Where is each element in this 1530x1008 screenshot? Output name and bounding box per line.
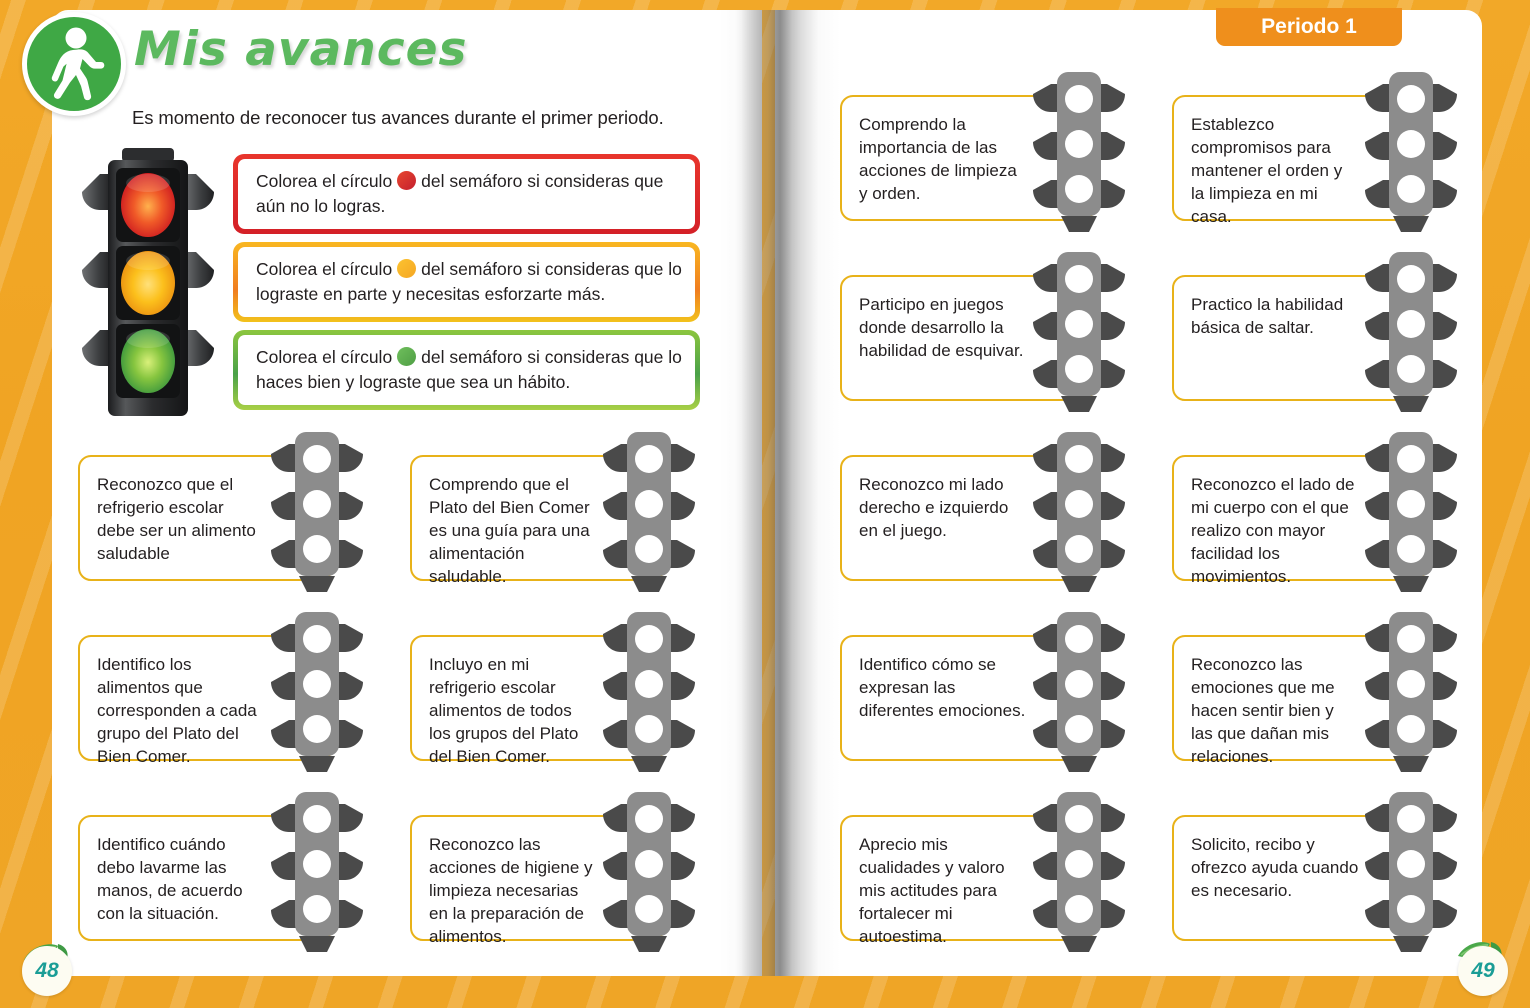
progress-card-text: Identifico cómo se expresan las diferent… xyxy=(859,653,1027,722)
progress-card[interactable]: Reconozco mi lado derecho e izquierdo en… xyxy=(840,455,1095,581)
progress-card[interactable]: Identifico cuándo debo lavarme las manos… xyxy=(78,815,333,941)
legend-text-yellow: Colorea el círculodel semáforo si consid… xyxy=(256,257,689,307)
traffic-light-icon[interactable] xyxy=(1353,66,1469,242)
traffic-light-icon[interactable] xyxy=(259,426,375,602)
progress-card-text: Participo en juegos donde desarrollo la … xyxy=(859,293,1027,362)
progress-card[interactable]: Comprendo que el Plato del Bien Comer es… xyxy=(410,455,665,581)
page-title: Mis avances xyxy=(134,22,467,77)
traffic-light-icon[interactable] xyxy=(1353,606,1469,782)
legend-prefix-green: Colorea el círculo xyxy=(256,347,392,367)
legend-dot-green xyxy=(397,347,416,366)
traffic-light-icon[interactable] xyxy=(1353,786,1469,962)
traffic-light-icon[interactable] xyxy=(1021,786,1137,962)
page-number-left: 48 xyxy=(18,940,76,998)
progress-card-text: Reconozco las emociones que me hacen sen… xyxy=(1191,653,1359,769)
progress-card[interactable]: Reconozco que el refrigerio escolar debe… xyxy=(78,455,333,581)
progress-card-text: Aprecio mis cualidades y valoro mis acti… xyxy=(859,833,1027,949)
traffic-light-icon[interactable] xyxy=(259,786,375,962)
progress-card[interactable]: Reconozco el lado de mi cuerpo con el qu… xyxy=(1172,455,1427,581)
legend-text-red: Colorea el círculodel semáforo si consid… xyxy=(256,169,689,219)
progress-card-text: Reconozco que el refrigerio escolar debe… xyxy=(97,473,265,565)
page-number-right: 49 xyxy=(1454,940,1512,998)
traffic-light-icon[interactable] xyxy=(1021,246,1137,422)
progress-card[interactable]: Participo en juegos donde desarrollo la … xyxy=(840,275,1095,401)
traffic-light-icon[interactable] xyxy=(1021,66,1137,242)
traffic-light-icon[interactable] xyxy=(1353,246,1469,422)
progress-card-text: Comprendo que el Plato del Bien Comer es… xyxy=(429,473,597,589)
traffic-light-icon[interactable] xyxy=(1353,426,1469,602)
progress-card[interactable]: Aprecio mis cualidades y valoro mis acti… xyxy=(840,815,1095,941)
progress-card-text: Establezco compromisos para mantener el … xyxy=(1191,113,1359,229)
progress-card[interactable]: Identifico los alimentos que corresponde… xyxy=(78,635,333,761)
progress-card[interactable]: Reconozco las emociones que me hacen sen… xyxy=(1172,635,1427,761)
progress-card-text: Solicito, recibo y ofrezco ayuda cuando … xyxy=(1191,833,1359,902)
period-badge: Periodo 1 xyxy=(1216,8,1402,46)
progress-card[interactable]: Comprendo la importancia de las acciones… xyxy=(840,95,1095,221)
progress-card-text: Reconozco mi lado derecho e izquierdo en… xyxy=(859,473,1027,542)
progress-card[interactable]: Incluyo en mi refrigerio escolar aliment… xyxy=(410,635,665,761)
progress-card-text: Practico la habilidad básica de saltar. xyxy=(1191,293,1359,339)
traffic-light-icon[interactable] xyxy=(591,606,707,782)
progress-card[interactable]: Solicito, recibo y ofrezco ayuda cuando … xyxy=(1172,815,1427,941)
legend-block: Colorea el círculodel semáforo si consid… xyxy=(70,150,700,414)
progress-card[interactable]: Identifico cómo se expresan las diferent… xyxy=(840,635,1095,761)
pedestrian-walking-icon xyxy=(22,12,126,116)
progress-card-text: Reconozco el lado de mi cuerpo con el qu… xyxy=(1191,473,1359,589)
legend-prefix-red: Colorea el círculo xyxy=(256,171,392,191)
progress-card-text: Incluyo en mi refrigerio escolar aliment… xyxy=(429,653,597,769)
traffic-light-icon[interactable] xyxy=(1021,426,1137,602)
progress-card-text: Identifico cuándo debo lavarme las manos… xyxy=(97,833,265,925)
progress-card-text: Identifico los alimentos que corresponde… xyxy=(97,653,265,769)
page-number-left-value: 48 xyxy=(22,946,72,996)
traffic-light-icon[interactable] xyxy=(591,786,707,962)
progress-card-text: Comprendo la importancia de las acciones… xyxy=(859,113,1027,205)
traffic-light-illustration xyxy=(70,148,245,426)
legend-dot-red xyxy=(397,171,416,190)
progress-card[interactable]: Practico la habilidad básica de saltar. xyxy=(1172,275,1427,401)
legend-dot-yellow xyxy=(397,259,416,278)
legend-prefix-yellow: Colorea el círculo xyxy=(256,259,392,279)
traffic-light-icon[interactable] xyxy=(1021,606,1137,782)
traffic-light-icon[interactable] xyxy=(591,426,707,602)
traffic-light-icon[interactable] xyxy=(259,606,375,782)
progress-card-text: Reconozco las acciones de higiene y limp… xyxy=(429,833,597,949)
progress-card[interactable]: Establezco compromisos para mantener el … xyxy=(1172,95,1427,221)
intro-text: Es momento de reconocer tus avances dura… xyxy=(132,107,664,129)
legend-text-green: Colorea el círculodel semáforo si consid… xyxy=(256,345,689,395)
page-number-right-value: 49 xyxy=(1458,946,1508,996)
progress-card[interactable]: Reconozco las acciones de higiene y limp… xyxy=(410,815,665,941)
